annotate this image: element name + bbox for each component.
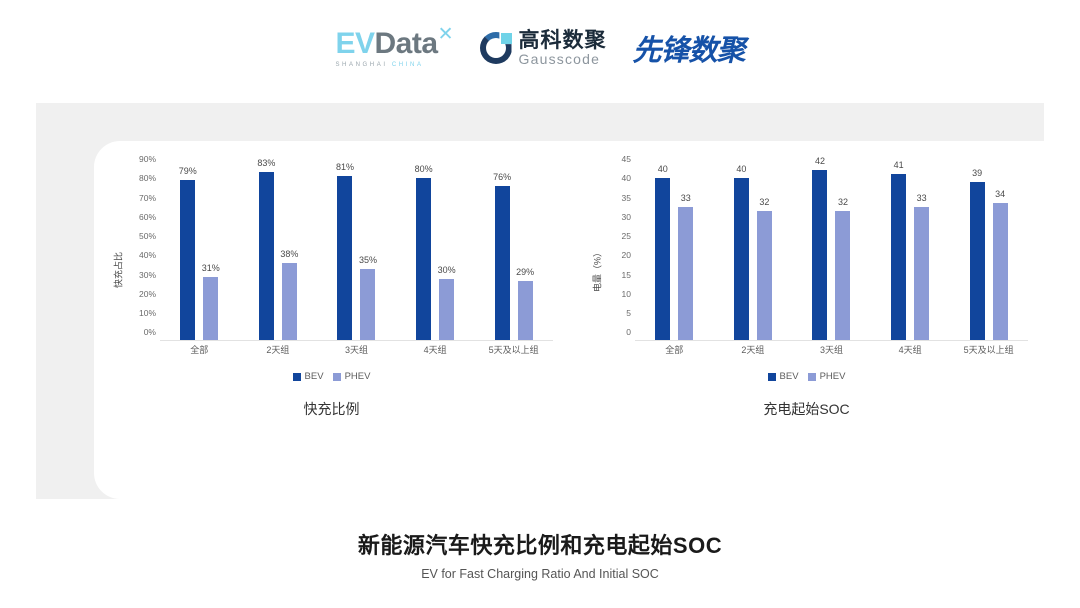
- y-tick: 60%: [139, 213, 156, 222]
- bar-group: 80%30%: [396, 159, 475, 340]
- legend-item-phev[interactable]: PHEV: [333, 371, 371, 382]
- y-tick: 0%: [144, 328, 156, 337]
- bar-phev[interactable]: 38%: [282, 263, 297, 340]
- chart-initial-soc: 电量（%） 45 40 35 30 25 20 15 10 5 0 403340…: [569, 141, 1044, 499]
- bar-value-label: 42: [815, 156, 825, 166]
- y-tick: 15: [622, 270, 631, 279]
- bar-value-label: 34: [995, 189, 1005, 199]
- gausscode-text: 高科数聚 Gausscode: [519, 30, 607, 67]
- x-axis-tick-label: 5天及以上组: [949, 343, 1028, 356]
- bar-group: 81%35%: [317, 159, 396, 340]
- bar-bev[interactable]: 83%: [259, 172, 274, 340]
- bar-phev[interactable]: 32: [835, 211, 850, 340]
- legend-label-phev: PHEV: [820, 371, 846, 382]
- y-tick: 45: [622, 155, 631, 164]
- bar-value-label: 38%: [280, 249, 298, 259]
- bar-group: 76%29%: [474, 159, 553, 340]
- bar-bev[interactable]: 41: [891, 174, 906, 340]
- bar-group: 83%38%: [239, 159, 318, 340]
- evdata-tagline-china: CHINA: [392, 62, 424, 68]
- evdata-ev-text: EV: [335, 27, 374, 60]
- charts-container: 快充占比 90% 80% 70% 60% 50% 40% 30% 20% 10%…: [94, 141, 1044, 499]
- legend-right: BEV PHEV: [569, 371, 1044, 382]
- bar-bev[interactable]: 80%: [416, 178, 431, 340]
- bar-bev[interactable]: 42: [812, 170, 827, 340]
- bar-value-label: 79%: [179, 166, 197, 176]
- bar-group: 4033: [635, 159, 714, 340]
- x-axis-tick-label: 3天组: [792, 343, 871, 356]
- xianfeng-logo: 先锋数聚: [633, 27, 745, 69]
- y-tick: 30%: [139, 270, 156, 279]
- bar-phev[interactable]: 35%: [360, 269, 375, 340]
- bar-bev[interactable]: 79%: [180, 180, 195, 340]
- chart-title-left: 快充比例: [94, 399, 569, 419]
- bar-value-label: 83%: [257, 158, 275, 168]
- x-axis-labels-left: 全部2天组3天组4天组5天及以上组: [160, 343, 553, 356]
- y-tick: 40%: [139, 251, 156, 260]
- bar-value-label: 39: [972, 168, 982, 178]
- x-axis-labels-right: 全部2天组3天组4天组5天及以上组: [635, 343, 1028, 356]
- chart-title-right: 充电起始SOC: [569, 399, 1044, 419]
- bar-phev[interactable]: 31%: [203, 277, 218, 340]
- y-tick: 20: [622, 251, 631, 260]
- bar-bev[interactable]: 40: [734, 178, 749, 340]
- gausscode-mark-icon: [480, 32, 512, 64]
- logo-bar: EVData ✕ SHANGHAI CHINA 高科数聚 Gausscode 先…: [0, 0, 1080, 90]
- y-axis-ticks-right: 45 40 35 30 25 20 15 10 5 0: [591, 159, 631, 341]
- gausscode-square-shape: [501, 33, 512, 44]
- evdata-x-icon: ✕: [438, 23, 454, 46]
- legend-item-bev[interactable]: BEV: [768, 371, 799, 382]
- y-tick: 5: [626, 309, 631, 318]
- bar-value-label: 29%: [516, 267, 534, 277]
- evdata-wordmark: EVData: [335, 29, 437, 59]
- y-tick: 0: [626, 328, 631, 337]
- plot-area-right: 电量（%） 45 40 35 30 25 20 15 10 5 0 403340…: [569, 159, 1044, 381]
- bar-phev[interactable]: 33: [678, 207, 693, 340]
- bar-phev[interactable]: 33: [914, 207, 929, 340]
- legend-item-bev[interactable]: BEV: [293, 371, 324, 382]
- legend-label-bev: BEV: [305, 371, 324, 382]
- y-tick: 40: [622, 174, 631, 183]
- gausscode-en-name: Gausscode: [519, 52, 607, 67]
- bar-bev[interactable]: 81%: [337, 176, 352, 340]
- gausscode-logo: 高科数聚 Gausscode: [480, 30, 607, 67]
- bar-value-label: 35%: [359, 255, 377, 265]
- bar-value-label: 76%: [493, 172, 511, 182]
- legend-swatch-phev-icon: [808, 373, 816, 381]
- x-axis-tick-label: 5天及以上组: [474, 343, 553, 356]
- bar-phev[interactable]: 34: [993, 203, 1008, 341]
- chart-fast-charge-ratio: 快充占比 90% 80% 70% 60% 50% 40% 30% 20% 10%…: [94, 141, 569, 499]
- bar-value-label: 32: [759, 197, 769, 207]
- x-axis-tick-label: 2天组: [239, 343, 318, 356]
- bar-value-label: 32: [838, 197, 848, 207]
- bar-bev[interactable]: 40: [655, 178, 670, 340]
- page-subtitle: EV for Fast Charging Ratio And Initial S…: [0, 567, 1080, 581]
- legend-swatch-phev-icon: [333, 373, 341, 381]
- footer-titles: 新能源汽车快充比例和充电起始SOC EV for Fast Charging R…: [0, 528, 1080, 581]
- bar-value-label: 33: [917, 193, 927, 203]
- bar-value-label: 40: [736, 164, 746, 174]
- y-tick: 10%: [139, 309, 156, 318]
- bar-bev[interactable]: 39: [970, 182, 985, 340]
- bar-bev[interactable]: 76%: [495, 186, 510, 340]
- y-axis-ticks-left: 90% 80% 70% 60% 50% 40% 30% 20% 10% 0%: [116, 159, 156, 341]
- bars-plot-right: 40334032423241333934: [635, 159, 1028, 341]
- y-tick: 80%: [139, 174, 156, 183]
- y-tick: 20%: [139, 290, 156, 299]
- x-axis-tick-label: 全部: [160, 343, 239, 356]
- legend-label-bev: BEV: [780, 371, 799, 382]
- bar-group: 4133: [871, 159, 950, 340]
- legend-left: BEV PHEV: [94, 371, 569, 382]
- x-axis-tick-label: 全部: [635, 343, 714, 356]
- bars-plot-left: 79%31%83%38%81%35%80%30%76%29%: [160, 159, 553, 341]
- x-axis-tick-label: 4天组: [871, 343, 950, 356]
- y-tick: 35: [622, 193, 631, 202]
- y-tick: 50%: [139, 232, 156, 241]
- y-tick: 70%: [139, 193, 156, 202]
- chart-card: 快充占比 90% 80% 70% 60% 50% 40% 30% 20% 10%…: [94, 141, 1044, 499]
- bar-phev[interactable]: 29%: [518, 281, 533, 340]
- evdata-tagline-shanghai: SHANGHAI: [335, 62, 387, 68]
- bar-value-label: 41: [894, 160, 904, 170]
- page-title: 新能源汽车快充比例和充电起始SOC: [0, 528, 1080, 560]
- y-tick: 10: [622, 290, 631, 299]
- legend-swatch-bev-icon: [768, 373, 776, 381]
- legend-item-phev[interactable]: PHEV: [808, 371, 846, 382]
- bar-value-label: 80%: [415, 164, 433, 174]
- bar-value-label: 40: [658, 164, 668, 174]
- content-panel: 快充占比 90% 80% 70% 60% 50% 40% 30% 20% 10%…: [36, 103, 1044, 499]
- plot-area-left: 快充占比 90% 80% 70% 60% 50% 40% 30% 20% 10%…: [94, 159, 569, 381]
- evdata-tagline: SHANGHAI CHINA: [335, 62, 437, 68]
- y-tick: 30: [622, 213, 631, 222]
- bar-phev[interactable]: 32: [757, 211, 772, 340]
- y-tick: 25: [622, 232, 631, 241]
- bar-group: 3934: [949, 159, 1028, 340]
- bar-group: 79%31%: [160, 159, 239, 340]
- x-axis-tick-label: 3天组: [317, 343, 396, 356]
- bar-value-label: 31%: [202, 263, 220, 273]
- bar-phev[interactable]: 30%: [439, 279, 454, 340]
- gausscode-cn-name: 高科数聚: [519, 30, 607, 52]
- bar-group: 4032: [714, 159, 793, 340]
- bar-value-label: 30%: [438, 265, 456, 275]
- evdata-data-text: Data: [374, 27, 437, 60]
- bar-group: 4232: [792, 159, 871, 340]
- legend-swatch-bev-icon: [293, 373, 301, 381]
- bar-value-label: 81%: [336, 162, 354, 172]
- x-axis-tick-label: 2天组: [714, 343, 793, 356]
- evdata-logo: EVData ✕ SHANGHAI CHINA: [335, 29, 453, 68]
- bar-value-label: 33: [681, 193, 691, 203]
- x-axis-tick-label: 4天组: [396, 343, 475, 356]
- legend-label-phev: PHEV: [345, 371, 371, 382]
- y-tick: 90%: [139, 155, 156, 164]
